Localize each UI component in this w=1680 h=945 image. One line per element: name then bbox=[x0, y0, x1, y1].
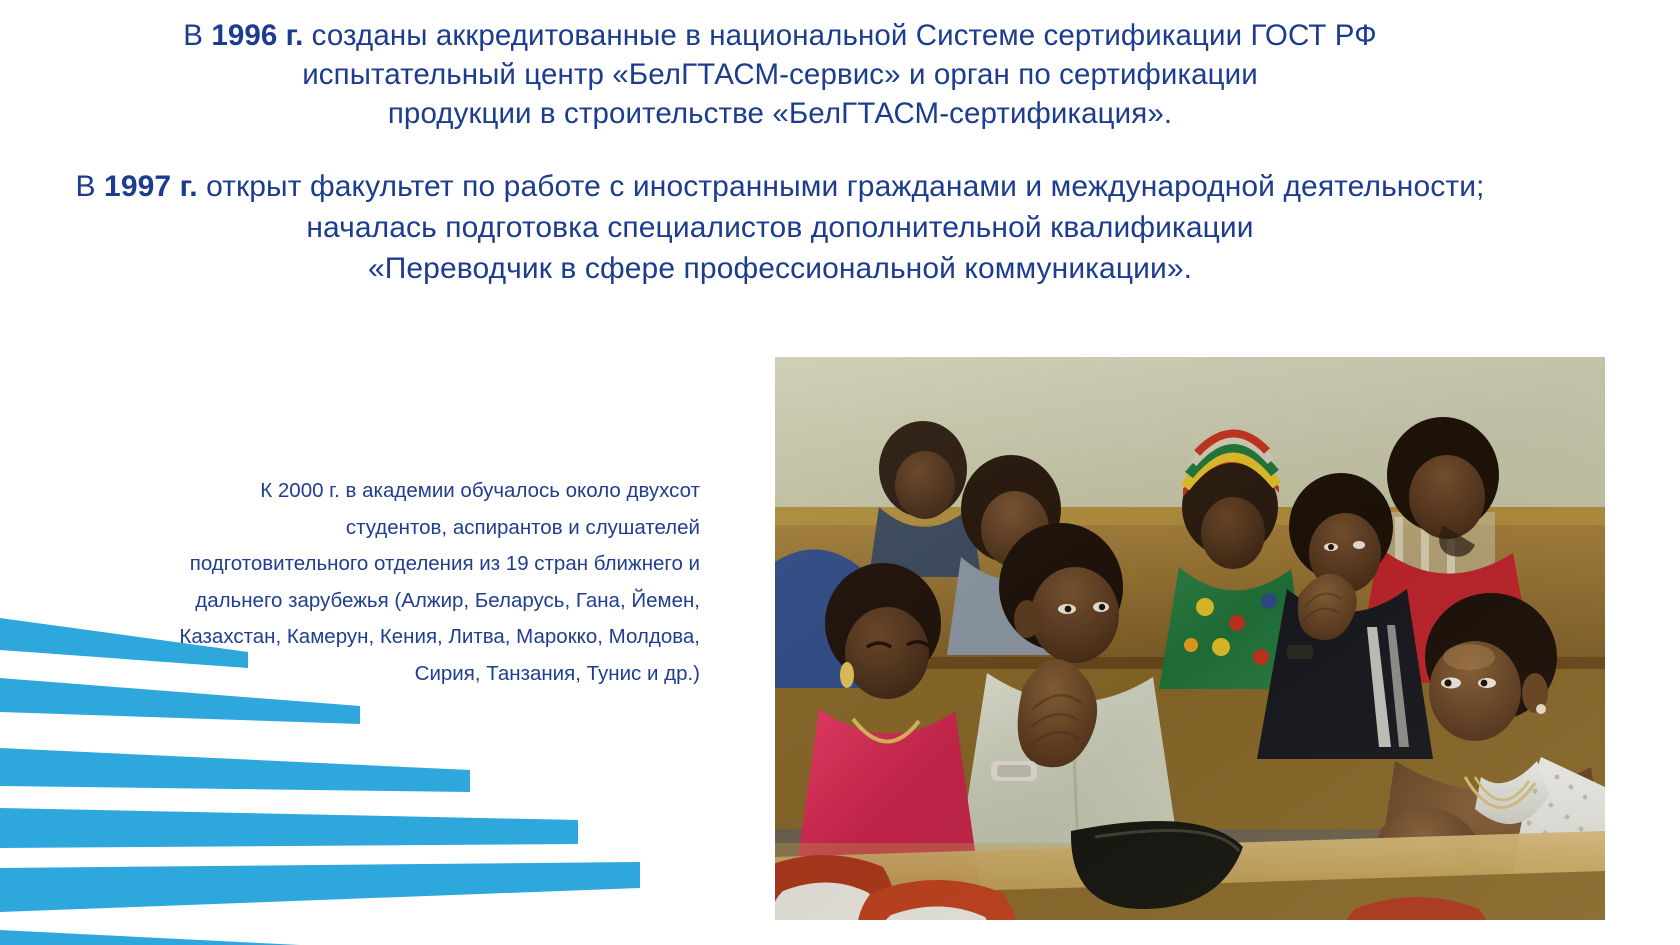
side-note-line-3: подготовительного отделения из 19 стран … bbox=[108, 546, 700, 583]
year-1996: 1996 г. bbox=[211, 19, 303, 52]
text-prefix-1997: В bbox=[75, 170, 104, 203]
side-note-line-5: Казахстан, Камерун, Кения, Литва, Марокк… bbox=[108, 619, 700, 656]
side-note-line-2: студентов, аспирантов и слушателей bbox=[108, 510, 700, 547]
paragraph-1996-line-3: продукции в строительстве «БелГТАСМ-серт… bbox=[0, 94, 1560, 133]
text-prefix-1996: В bbox=[183, 19, 211, 52]
slide-root: В 1996 г. созданы аккредитованные в наци… bbox=[0, 0, 1680, 945]
side-note-line-1: К 2000 г. в академии обучалось около дву… bbox=[108, 473, 700, 510]
stripe-3 bbox=[0, 748, 470, 792]
text-rest-1997: открыт факультет по работе с иностранным… bbox=[198, 170, 1485, 203]
stripe-5 bbox=[0, 862, 640, 912]
side-note-line-4: дальнего зарубежья (Алжир, Беларусь, Ган… bbox=[108, 583, 700, 620]
side-note-paragraph: К 2000 г. в академии обучалось около дву… bbox=[108, 473, 700, 692]
paragraph-1997-line-3: «Переводчик в сфере профессиональной ком… bbox=[0, 248, 1560, 289]
paragraph-1997-line-2: началась подготовка специалистов дополни… bbox=[0, 207, 1560, 248]
audience-photo bbox=[775, 357, 1605, 920]
stripe-4 bbox=[0, 808, 578, 848]
paragraph-1996: В 1996 г. созданы аккредитованные в наци… bbox=[0, 16, 1560, 133]
paragraph-1997: В 1997 г. открыт факультет по работе с и… bbox=[0, 166, 1560, 289]
text-rest-1996: созданы аккредитованные в национальной С… bbox=[303, 19, 1376, 52]
stripe-6 bbox=[0, 930, 300, 945]
audience-photo-canvas bbox=[775, 357, 1605, 920]
year-1997: 1997 г. bbox=[104, 170, 198, 203]
headline-block: В 1996 г. созданы аккредитованные в наци… bbox=[0, 16, 1560, 289]
side-note-line-6: Сирия, Танзания, Тунис и др.) bbox=[108, 656, 700, 693]
paragraph-1996-line-2: испытательный центр «БелГТАСМ-сервис» и … bbox=[0, 55, 1560, 94]
paragraph-1996-line-1: В 1996 г. созданы аккредитованные в наци… bbox=[0, 16, 1560, 55]
paragraph-1997-line-1: В 1997 г. открыт факультет по работе с и… bbox=[0, 166, 1560, 207]
